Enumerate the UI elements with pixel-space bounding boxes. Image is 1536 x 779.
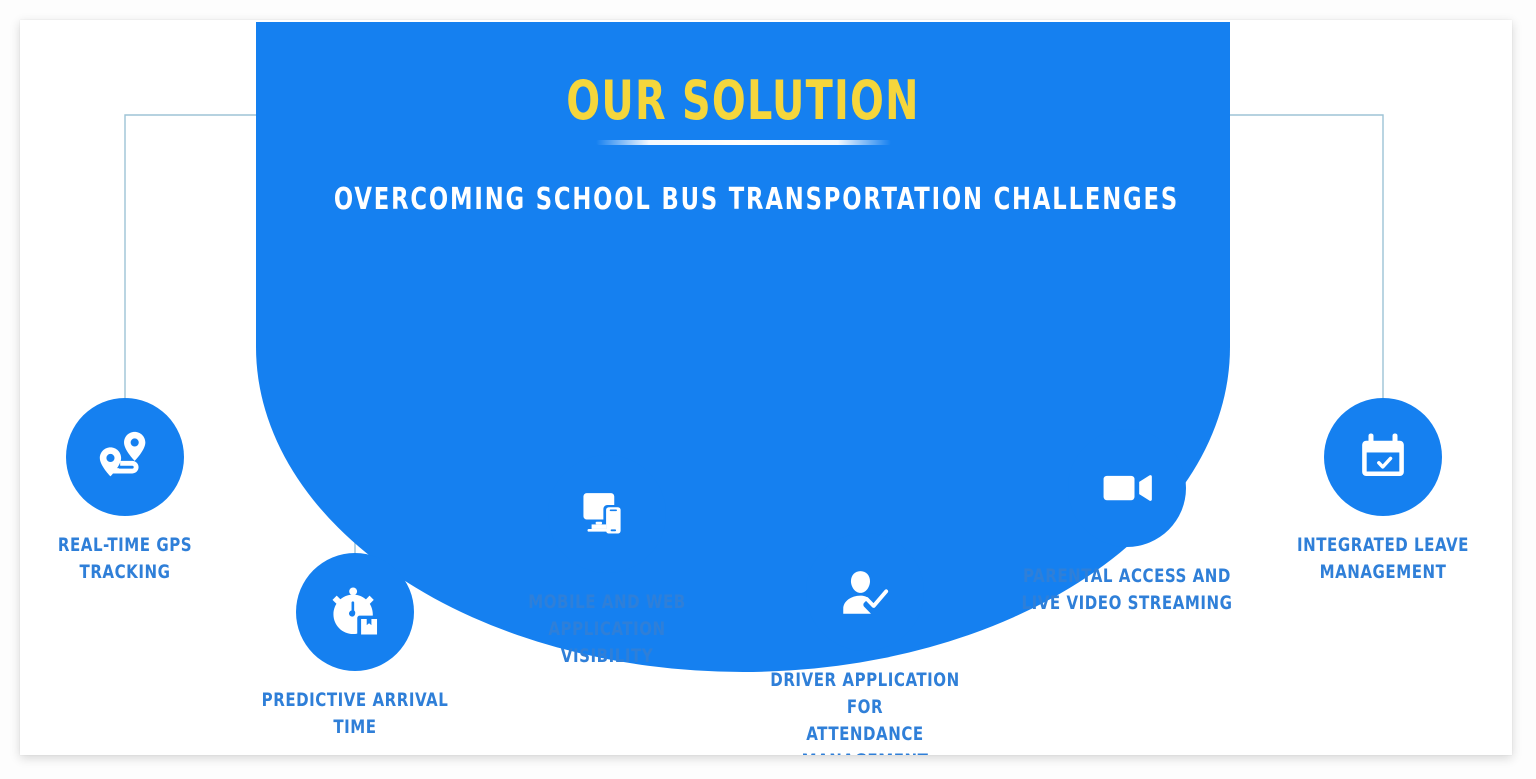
monitor-phone-icon [578, 485, 636, 543]
connector-left-bracket [125, 115, 272, 398]
feature-label: PARENTAL ACCESS AND LIVE VIDEO STREAMING [1013, 563, 1242, 617]
feature-node-parental-access-and-live-video-streaming[interactable]: PARENTAL ACCESS AND LIVE VIDEO STREAMING [997, 429, 1257, 617]
feature-icon-circle [548, 455, 666, 573]
video-camera-icon [1097, 458, 1157, 518]
feature-node-mobile-and-web-application-visibility[interactable]: MOBILE AND WEB APPLICATION VISIBILITY [477, 455, 737, 670]
stopwatch-package-icon [325, 582, 385, 642]
person-checkmark-icon [836, 563, 894, 621]
feature-label-line2: TIME [333, 716, 376, 738]
connector-right-bracket [1216, 115, 1383, 398]
feature-node-driver-application-for-attendance-management[interactable]: DRIVER APPLICATION FOR ATTENDANCE MANAGE… [735, 533, 995, 755]
feature-label-line2: LIVE VIDEO STREAMING [1021, 592, 1232, 614]
feature-icon-circle [296, 553, 414, 671]
feature-label: MOBILE AND WEB APPLICATION VISIBILITY [493, 589, 722, 670]
feature-label-line1: DRIVER APPLICATION FOR [770, 669, 959, 718]
page-title: OUR SOLUTION [344, 74, 1143, 128]
feature-node-integrated-leave-management[interactable]: INTEGRATED LEAVE MANAGEMENT [1253, 398, 1512, 586]
feature-label: INTEGRATED LEAVE MANAGEMENT [1269, 532, 1498, 586]
slide-card: OUR SOLUTION OVERCOMING SCHOOL BUS TRANS… [20, 20, 1512, 755]
feature-label-line1: MOBILE AND WEB APPLICATION [528, 591, 686, 640]
feature-label-line2: ATTENDANCE MANAGEMENT [802, 723, 929, 755]
title-underline [596, 140, 891, 145]
feature-label: DRIVER APPLICATION FOR ATTENDANCE MANAGE… [751, 667, 980, 755]
map-pins-route-icon [94, 426, 156, 488]
feature-label: REAL-TIME GPS TRACKING [20, 532, 239, 586]
feature-node-real-time-gps-tracking[interactable]: REAL-TIME GPS TRACKING [20, 398, 255, 586]
page-subtitle: OVERCOMING SCHOOL BUS TRANSPORTATION CHA… [334, 185, 1152, 215]
hero-content: OUR SOLUTION OVERCOMING SCHOOL BUS TRANS… [256, 22, 1230, 215]
feature-label-line2: TRACKING [80, 561, 171, 583]
feature-node-predictive-arrival-time[interactable]: PREDICTIVE ARRIVAL TIME [225, 553, 485, 741]
feature-label-line1: PREDICTIVE ARRIVAL [262, 689, 449, 711]
feature-label-line1: REAL-TIME GPS [58, 534, 192, 556]
slide-canvas: OUR SOLUTION OVERCOMING SCHOOL BUS TRANS… [0, 0, 1536, 779]
feature-icon-circle [1068, 429, 1186, 547]
feature-icon-circle [1324, 398, 1442, 516]
feature-label-line1: INTEGRATED LEAVE [1297, 534, 1469, 556]
feature-label-line1: PARENTAL ACCESS AND [1023, 565, 1231, 587]
calendar-check-icon [1354, 428, 1412, 486]
feature-icon-circle [66, 398, 184, 516]
feature-label-line2: MANAGEMENT [1320, 561, 1447, 583]
feature-label: PREDICTIVE ARRIVAL TIME [241, 687, 470, 741]
feature-icon-circle [806, 533, 924, 651]
feature-label-line2: VISIBILITY [561, 645, 653, 667]
